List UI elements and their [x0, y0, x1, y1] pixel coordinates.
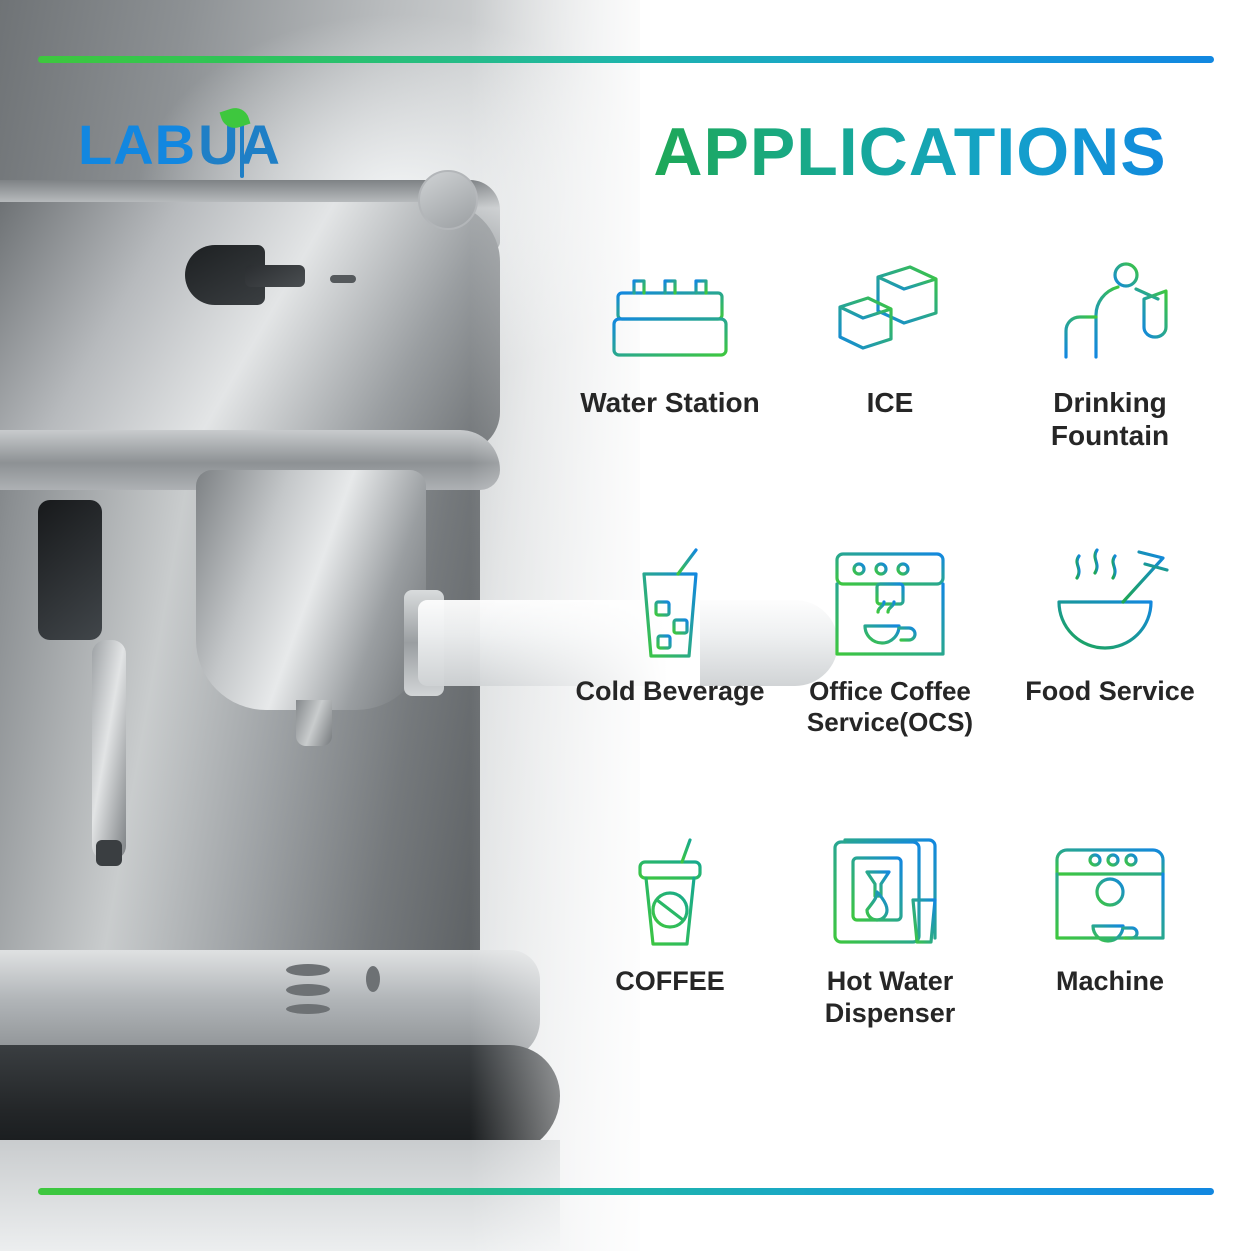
coffee-machine-icon	[815, 540, 965, 670]
machine-logo-emboss	[164, 380, 224, 420]
espresso-machine-icon	[1035, 830, 1185, 960]
ice-cubes-icon	[820, 250, 960, 380]
noodle-bowl-icon	[1035, 540, 1185, 670]
application-item-drinking-fountain[interactable]: Drinking Fountain	[1000, 250, 1220, 540]
water-station-icon	[600, 250, 740, 380]
page-title: APPLICATIONS	[630, 118, 1190, 186]
application-label: Hot Water Dispenser	[780, 966, 1000, 1030]
steam-wand-joint	[38, 500, 102, 640]
application-label: ICE	[867, 386, 914, 419]
application-item-machine[interactable]: Machine	[1000, 830, 1220, 1120]
application-item-hot-water-dispenser[interactable]: Hot Water Dispenser	[780, 830, 1000, 1120]
application-item-office-coffee-service[interactable]: Office Coffee Service(OCS)	[780, 540, 1000, 830]
brand-logo: LAB UA	[78, 112, 281, 176]
hot-water-dispenser-icon	[815, 830, 965, 960]
application-label: Office Coffee Service(OCS)	[780, 676, 1000, 737]
bottom-gradient-bar	[38, 1188, 1214, 1195]
machine-indicator-light	[330, 275, 356, 283]
coffee-cup-lid-icon	[600, 830, 740, 960]
application-label: Water Station	[580, 386, 759, 419]
application-label: Drinking Fountain	[1000, 386, 1220, 452]
brand-p-stem	[240, 124, 244, 178]
drinking-fountain-icon	[1040, 250, 1180, 380]
application-label: Food Service	[1025, 676, 1195, 708]
application-item-cold-beverage[interactable]: Cold Beverage	[560, 540, 780, 830]
steam-wand	[92, 640, 126, 860]
applications-grid: Water Station ICE	[560, 250, 1220, 1120]
group-head	[196, 470, 426, 710]
machine-upper-panel	[0, 202, 500, 452]
machine-knob-lever	[245, 265, 305, 287]
drip-tray	[0, 950, 540, 1060]
application-label: COFFEE	[615, 966, 725, 998]
application-item-coffee[interactable]: COFFEE	[560, 830, 780, 1120]
top-gradient-bar	[38, 56, 1214, 63]
application-label: Machine	[1056, 966, 1164, 998]
application-item-water-station[interactable]: Water Station	[560, 250, 780, 540]
cold-drink-glass-icon	[600, 540, 740, 670]
poster-canvas: LAB UA APPLICATIONS	[0, 0, 1251, 1251]
product-photo	[0, 0, 640, 1251]
application-label: Cold Beverage	[575, 676, 764, 708]
portafilter-spout	[296, 700, 332, 746]
steam-wand-tip	[96, 840, 122, 866]
brand-text-lab: LAB	[78, 112, 196, 177]
drip-tray-grate	[280, 960, 400, 1016]
machine-button-round	[418, 170, 478, 230]
application-item-ice[interactable]: ICE	[780, 250, 1000, 540]
application-item-food-service[interactable]: Food Service	[1000, 540, 1220, 830]
